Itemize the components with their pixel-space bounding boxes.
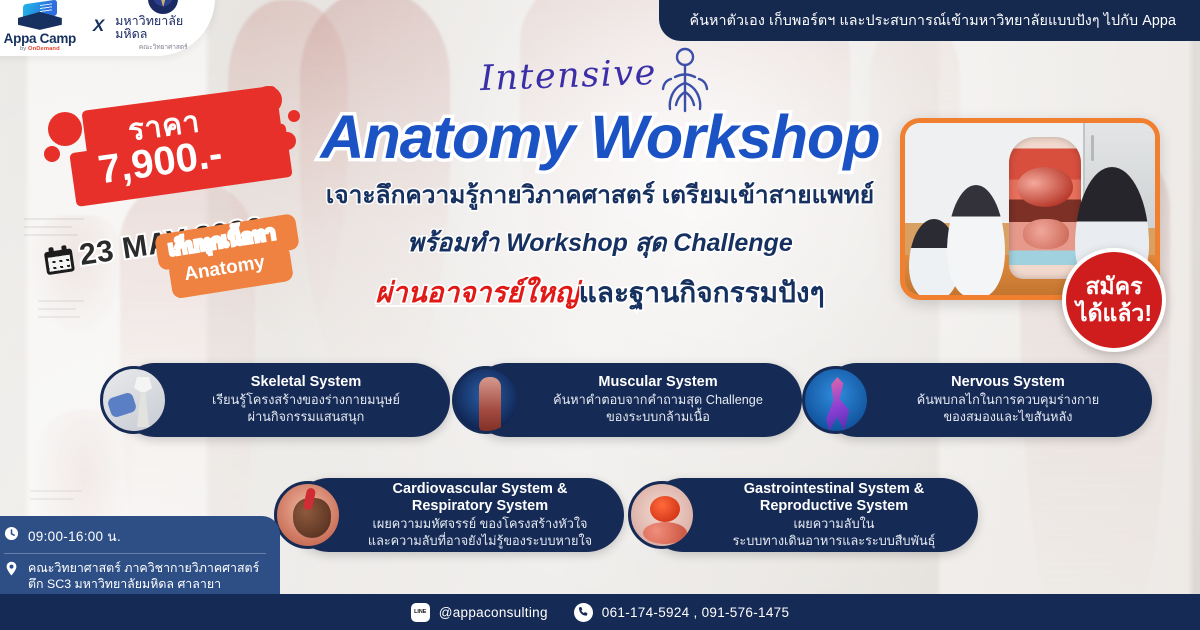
anatomical-torso-model [1009, 137, 1081, 279]
appa-camp-byline: by OnDemand [20, 46, 60, 52]
card-desc-2: ของสมองและไขสันหลัง [876, 409, 1140, 426]
appa-camp-logo: Appa Camp by OnDemand [0, 1, 82, 52]
header-tagline-bar: ค้นหาตัวเอง เก็บพอร์ตฯ และประสบการณ์เข้า… [659, 0, 1200, 41]
event-location-line1: คณะวิทยาศาสตร์ ภาควิชากายวิภาคศาสตร์ [28, 560, 259, 576]
skeleton-thumb-icon [100, 366, 168, 434]
price-badge: ราคา 7,900.- 23 MAY 2026 [42, 76, 310, 216]
logo-plate: Appa Camp by OnDemand X มหาวิทยาลัยมหิดล… [0, 0, 215, 56]
appa-stack-icon [18, 1, 62, 31]
system-card-gastrointestinal[interactable]: Gastrointestinal System & Reproductive S… [646, 478, 978, 552]
title-block: Intensive Anatom [300, 58, 900, 315]
nervous-figure-thumb-icon [802, 366, 870, 434]
apply-badge-line2: ได้แล้ว! [1076, 301, 1152, 326]
line-icon [411, 603, 430, 622]
clock-icon [4, 526, 19, 541]
system-card-skeletal[interactable]: Skeletal System เรียนรู้โครงสร้างของร่าง… [118, 363, 450, 437]
event-location-text: คณะวิทยาศาสตร์ ภาควิชากายวิภาคศาสตร์ ตึก… [28, 560, 259, 593]
mahidol-logo: มหาวิทยาลัยมหิดล คณะวิทยาศาสตร์ [115, 0, 211, 52]
location-pin-icon [4, 561, 19, 576]
mahidol-name: มหาวิทยาลัยมหิดล [115, 15, 211, 43]
card-title: Nervous System [876, 374, 1140, 392]
banner-canvas: Appa Camp by OnDemand X มหาวิทยาลัยมหิดล… [0, 0, 1200, 630]
card-desc-1: เผยความมหัศจรรย์ ของโครงสร้างหัวใจ [348, 516, 612, 533]
card-desc-2: ระบบทางเดินอาหารและระบบสืบพันธุ์ [702, 533, 966, 550]
price-splat [44, 146, 60, 162]
price-splat [288, 110, 300, 122]
line-id-text: @appaconsulting [439, 605, 548, 620]
subtitle-line-3-highlight: ผ่านอาจารย์ใหญ่ [375, 277, 578, 308]
phone-contact[interactable]: 061-174-5924 , 091-576-1475 [574, 603, 790, 622]
system-card-muscular[interactable]: Muscular System ค้นหาคำตอบจากคำถามสุด Ch… [470, 363, 802, 437]
phone-numbers-text: 061-174-5924 , 091-576-1475 [602, 605, 790, 620]
event-time-text: 09:00-16:00 น. [28, 525, 121, 547]
title-eyebrow: Intensive [479, 53, 657, 99]
content-coverage-tag: เก็บทุกเนื้อหา Anatomy [150, 224, 310, 296]
system-card-nervous[interactable]: Nervous System ค้นพบกลไกในการควบคุมร่างก… [820, 363, 1152, 437]
subtitle-line-3: ผ่านอาจารย์ใหญ่และฐานกิจกรรมปังๆ [300, 271, 900, 315]
line-contact[interactable]: @appaconsulting [411, 603, 548, 622]
phone-icon [574, 603, 593, 622]
organs-thumb-icon [628, 481, 696, 549]
main-title: Anatomy Workshop [300, 106, 900, 168]
card-desc-1: ค้นหาคำตอบจากคำถามสุด Challenge [526, 392, 790, 409]
price-splat [48, 112, 82, 146]
header-tagline-text: ค้นหาตัวเอง เก็บพอร์ตฯ และประสบการณ์เข้า… [689, 10, 1176, 32]
subtitle-line-2: พร้อมทำ Workshop สุด Challenge [300, 223, 900, 263]
subtitle-line-3-rest: และฐานกิจกรรมปังๆ [579, 277, 825, 308]
apply-now-badge[interactable]: สมัคร ได้แล้ว! [1062, 248, 1166, 352]
card-desc-2: ของระบบกล้ามเนื้อ [526, 409, 790, 426]
mahidol-faculty: คณะวิทยาศาสตร์ [139, 42, 188, 52]
nervous-system-icon [652, 46, 718, 114]
system-card-cardiovascular[interactable]: Cardiovascular System & Respiratory Syst… [292, 478, 624, 552]
mahidol-crest-icon [148, 0, 178, 14]
card-desc-1: เผยความลับใน [702, 516, 966, 533]
muscle-figure-thumb-icon [452, 366, 520, 434]
event-location-row: คณะวิทยาศาสตร์ ภาควิชากายวิภาคศาสตร์ ตึก… [4, 554, 266, 593]
heart-thumb-icon [274, 481, 342, 549]
apply-badge-line1: สมัคร [1086, 274, 1143, 299]
appa-camp-name: Appa Camp [4, 32, 76, 46]
event-info-panel: 09:00-16:00 น. คณะวิทยาศาสตร์ ภาควิชากาย… [0, 516, 280, 594]
card-title: Skeletal System [174, 374, 438, 392]
contact-footer: @appaconsulting 061-174-5924 , 091-576-1… [0, 594, 1200, 630]
card-title: Muscular System [526, 374, 790, 392]
event-time-row: 09:00-16:00 น. [4, 525, 266, 554]
event-location-line2: ตึก SC3 มหาวิทยาลัยมหิดล ศาลายา [28, 576, 259, 592]
card-title-2: Respiratory System [348, 498, 612, 516]
card-title: Cardiovascular System & [348, 481, 612, 499]
calendar-icon [43, 244, 75, 275]
card-desc-1: ค้นพบกลไกในการควบคุมร่างกาย [876, 392, 1140, 409]
card-title: Gastrointestinal System & [702, 481, 966, 499]
card-desc-2: ผ่านกิจกรรมแสนสนุก [174, 409, 438, 426]
card-desc-1: เรียนรู้โครงสร้างของร่างกายมนุษย์ [174, 392, 438, 409]
logo-x-separator: X [93, 16, 104, 52]
title-eyebrow-row: Intensive [300, 58, 900, 112]
card-desc-2: และความลับที่อาจยังไม่รู้ของระบบหายใจ [348, 533, 612, 550]
card-title-2: Reproductive System [702, 498, 966, 516]
subtitle-line-1: เจาะลึกความรู้กายวิภาคศาสตร์ เตรียมเข้าส… [300, 175, 900, 214]
